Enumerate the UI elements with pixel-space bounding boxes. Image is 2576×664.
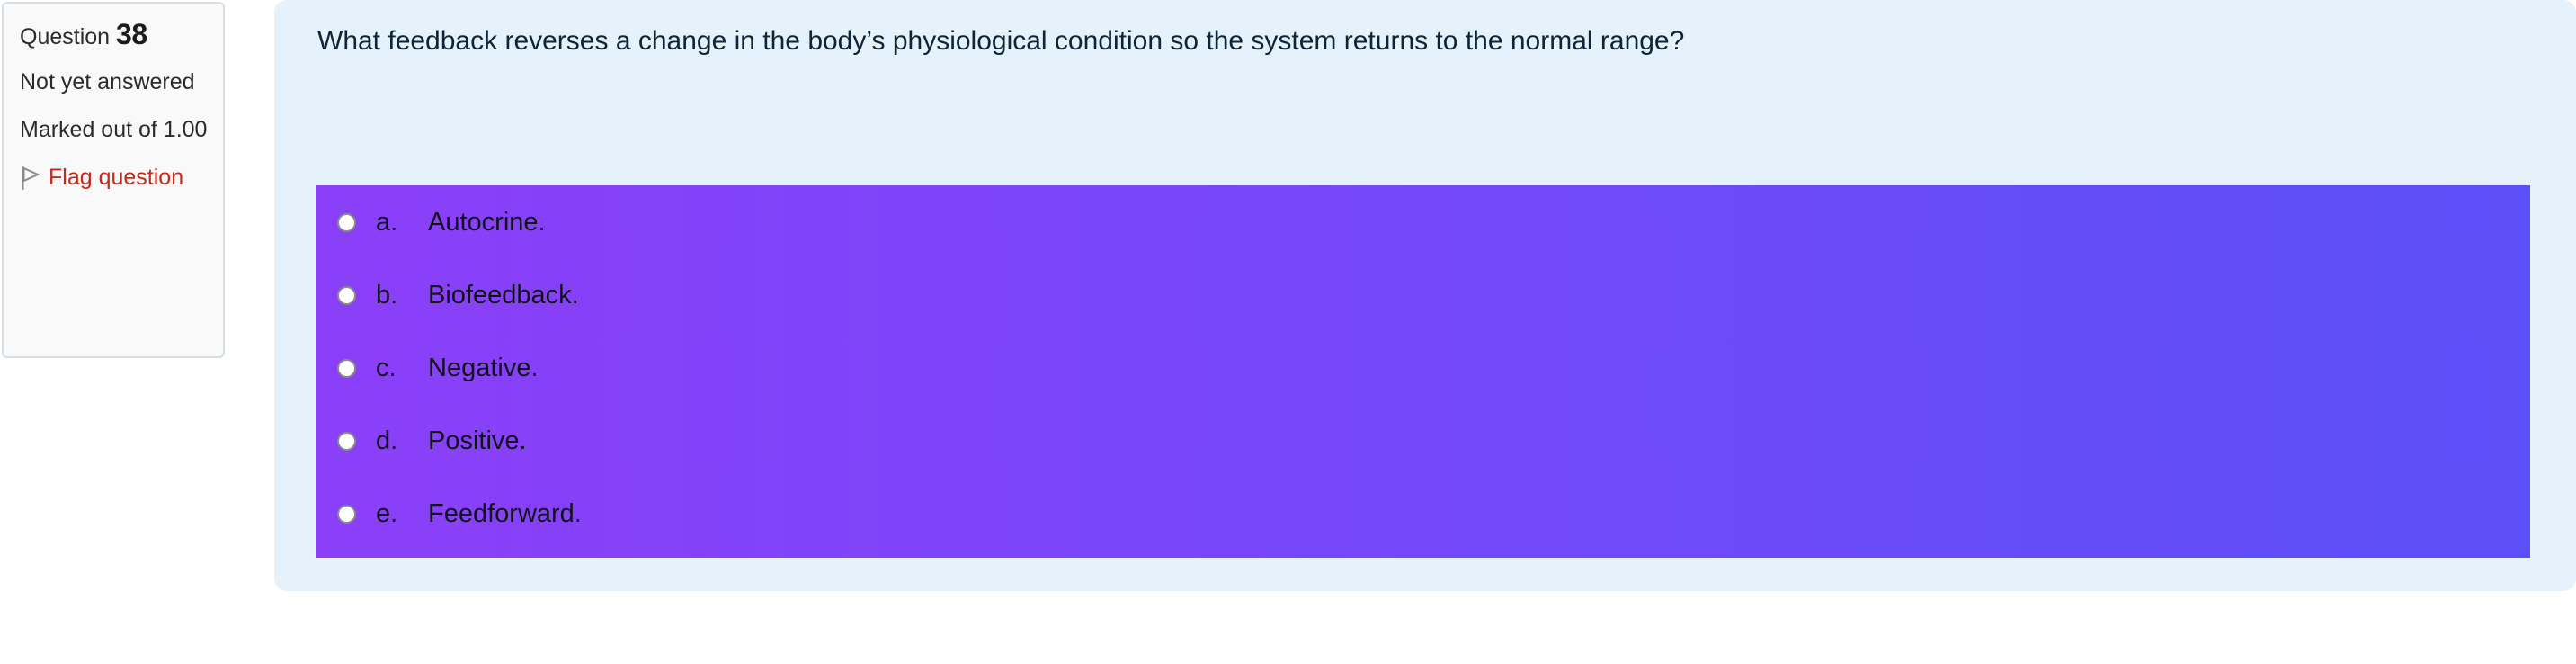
- radio-button-c[interactable]: [337, 359, 356, 378]
- answer-option-a[interactable]: a. Autocrine.: [337, 204, 546, 240]
- question-number-label: Question: [20, 24, 110, 49]
- question-text: What feedback reverses a change in the b…: [317, 23, 2511, 58]
- answer-option-text: Feedforward.: [428, 501, 582, 527]
- answer-option-b[interactable]: b. Biofeedback.: [337, 277, 579, 313]
- question-number-value: 38: [116, 18, 147, 50]
- radio-button-d[interactable]: [337, 432, 356, 451]
- question-number-line: Question 38: [20, 18, 209, 51]
- answer-option-letter: a.: [376, 210, 428, 236]
- answer-option-text: Autocrine.: [428, 210, 546, 236]
- question-marks: Marked out of 1.00: [20, 115, 209, 145]
- answer-option-e[interactable]: e. Feedforward.: [337, 496, 582, 532]
- flag-question-control[interactable]: Flag question: [20, 163, 209, 193]
- flag-icon: [20, 166, 43, 191]
- answer-option-letter: d.: [376, 428, 428, 454]
- radio-button-b[interactable]: [337, 286, 356, 305]
- answer-option-text: Biofeedback.: [428, 283, 579, 309]
- answer-option-d[interactable]: d. Positive.: [337, 423, 527, 459]
- answer-option-text: Negative.: [428, 355, 539, 381]
- quiz-question-container: Question 38 Not yet answered Marked out …: [0, 0, 2576, 664]
- radio-button-e[interactable]: [337, 505, 356, 524]
- flag-question-label[interactable]: Flag question: [49, 163, 183, 193]
- radio-button-a[interactable]: [337, 213, 356, 232]
- answer-option-c[interactable]: c. Negative.: [337, 350, 539, 386]
- question-state: Not yet answered: [20, 67, 209, 97]
- answer-option-letter: e.: [376, 501, 428, 527]
- question-content-card: What feedback reverses a change in the b…: [274, 0, 2576, 591]
- answer-option-letter: b.: [376, 283, 428, 309]
- answer-options-block: a. Autocrine. b. Biofeedback. c. Negativ…: [316, 185, 2530, 558]
- answer-option-text: Positive.: [428, 428, 527, 454]
- question-info-panel: Question 38 Not yet answered Marked out …: [2, 2, 225, 358]
- answer-option-letter: c.: [376, 355, 428, 381]
